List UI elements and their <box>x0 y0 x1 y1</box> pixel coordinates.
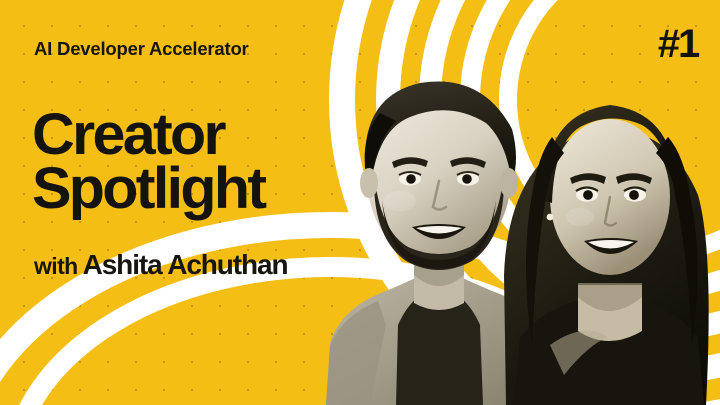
program-eyebrow: AI Developer Accelerator <box>34 38 249 60</box>
title-block: AI Developer Accelerator Creator Spotlig… <box>34 0 374 405</box>
title-line-2: Spotlight <box>32 162 264 216</box>
thumbnail-canvas: AI Developer Accelerator Creator Spotlig… <box>0 0 720 405</box>
episode-number-badge: #1 <box>658 24 698 64</box>
byline-preposition: with <box>34 253 78 279</box>
guest-name: Ashita Achuthan <box>83 249 288 280</box>
guest-byline: withAshita Achuthan <box>34 249 288 281</box>
page-title: Creator Spotlight <box>32 108 264 216</box>
guest-portrait <box>492 45 720 405</box>
